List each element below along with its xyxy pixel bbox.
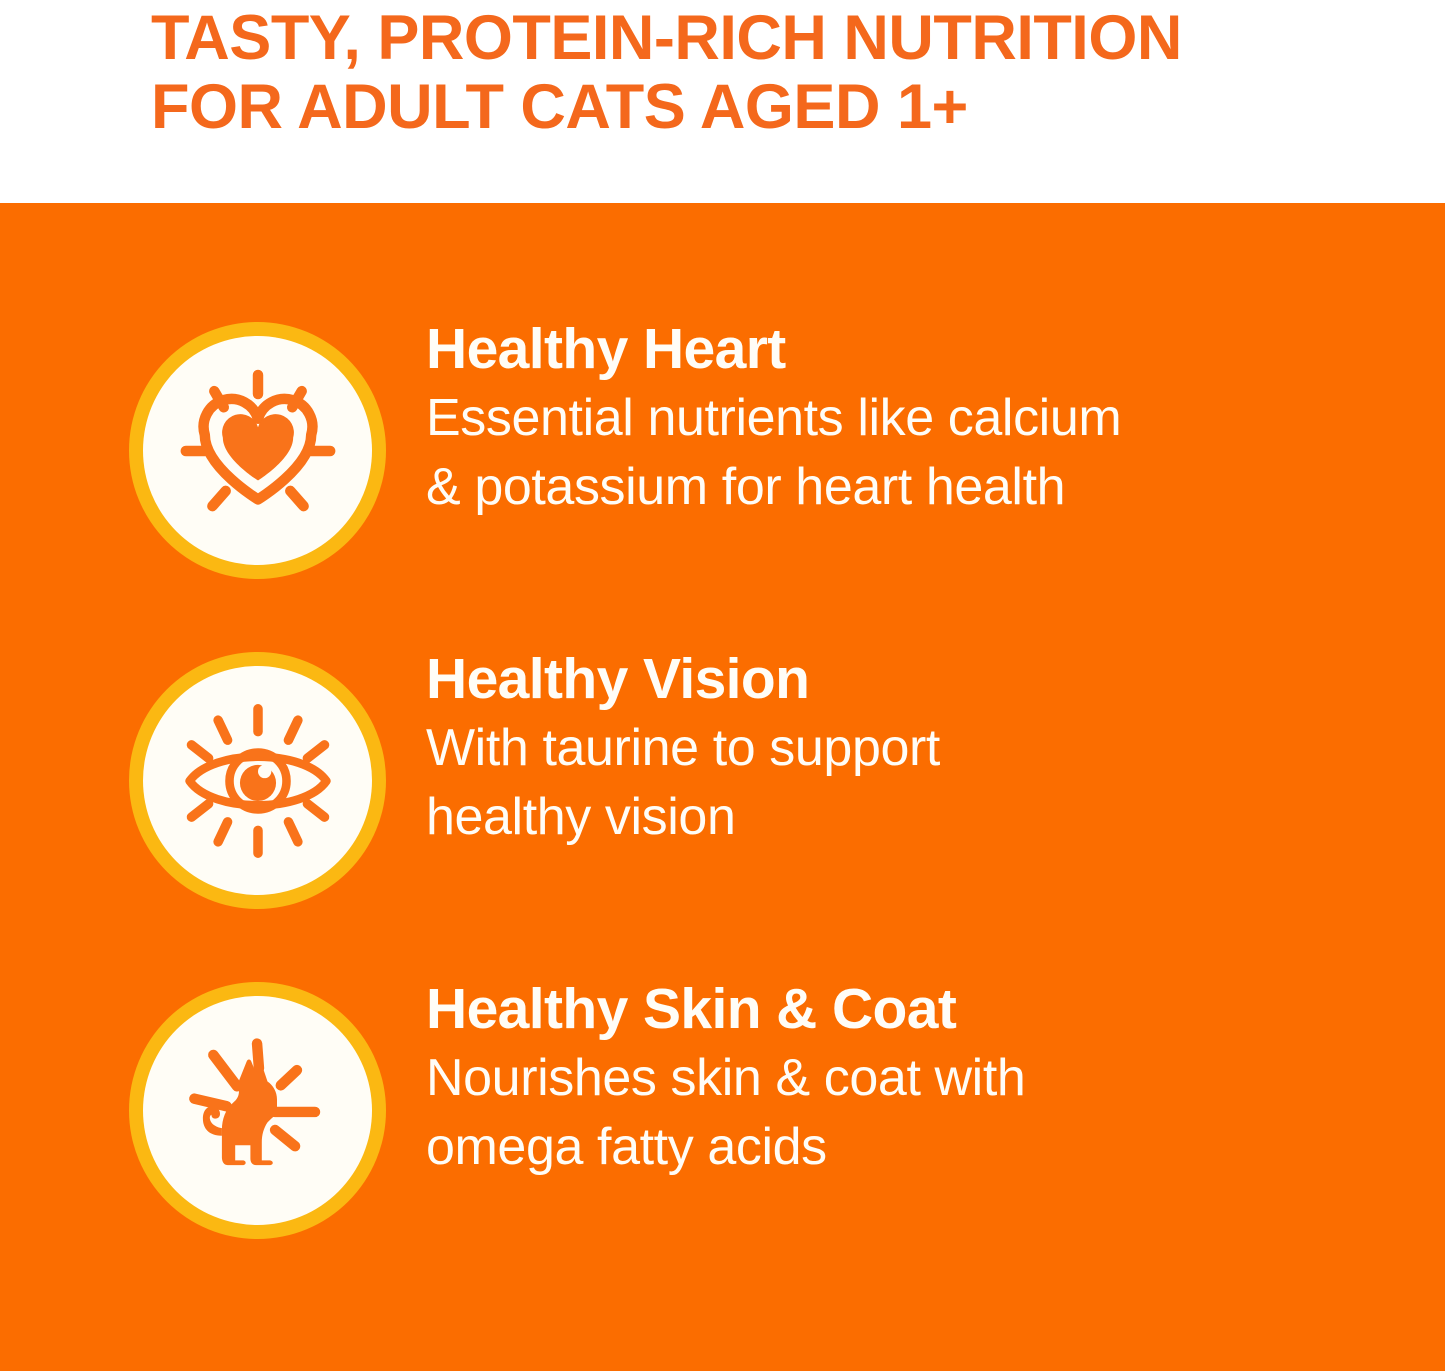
benefit-title: Healthy Vision <box>426 644 1366 714</box>
benefit-description: Essential nutrients like calcium & potas… <box>426 384 1366 522</box>
header-band: TASTY, PROTEIN-RICH NUTRITION FOR ADULT … <box>0 0 1445 203</box>
benefit-title: Healthy Heart <box>426 314 1366 384</box>
product-benefits-infographic: TASTY, PROTEIN-RICH NUTRITION FOR ADULT … <box>0 0 1445 1371</box>
benefit-copy: Healthy Heart Essential nutrients like c… <box>426 314 1366 522</box>
benefit-icon-badge <box>129 982 386 1239</box>
radiant-heart-icon <box>143 336 372 565</box>
benefit-title: Healthy Skin & Coat <box>426 974 1366 1044</box>
radiant-cat-icon <box>143 996 372 1225</box>
benefit-copy: Healthy Skin & Coat Nourishes skin & coa… <box>426 974 1366 1182</box>
benefit-description: Nourishes skin & coat with omega fatty a… <box>426 1044 1366 1182</box>
benefit-description: With taurine to support healthy vision <box>426 714 1366 852</box>
benefit-row: Healthy Heart Essential nutrients like c… <box>0 322 1445 622</box>
benefit-copy: Healthy Vision With taurine to support h… <box>426 644 1366 852</box>
benefit-icon-badge <box>129 652 386 909</box>
benefit-row: Healthy Skin & Coat Nourishes skin & coa… <box>0 982 1445 1282</box>
benefits-panel: Healthy Heart Essential nutrients like c… <box>0 203 1445 1371</box>
page-title: TASTY, PROTEIN-RICH NUTRITION FOR ADULT … <box>151 4 1391 142</box>
benefit-row: Healthy Vision With taurine to support h… <box>0 652 1445 952</box>
benefit-icon-badge <box>129 322 386 579</box>
radiant-eye-icon <box>143 666 372 895</box>
